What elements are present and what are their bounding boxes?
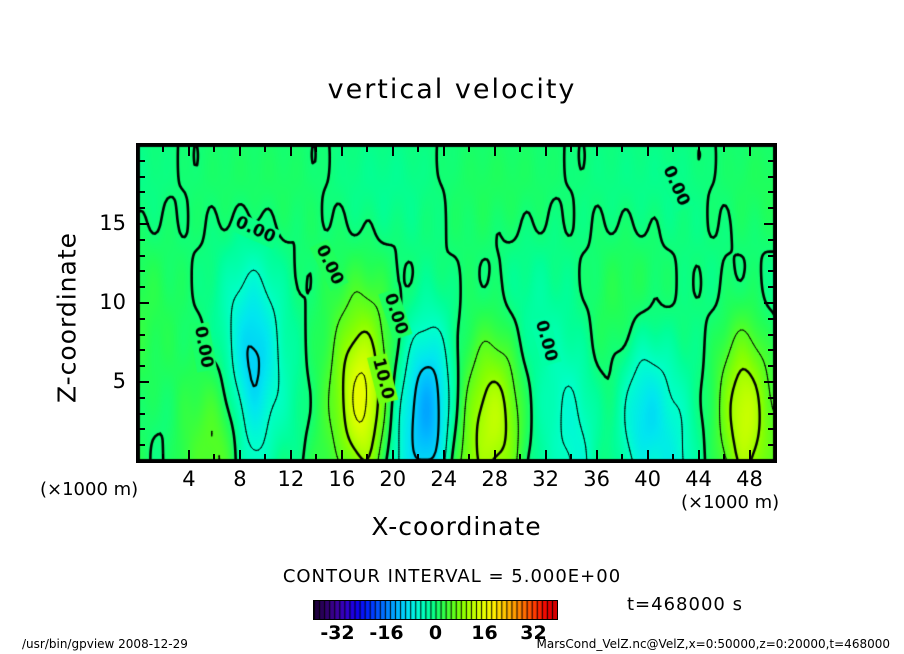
y-tick-left bbox=[138, 349, 145, 351]
colorbar-canvas bbox=[314, 601, 557, 619]
y-tick-right bbox=[768, 207, 775, 209]
y-axis-units: (×1000 m) bbox=[40, 479, 138, 500]
x-tick-top bbox=[264, 145, 266, 152]
y-tick-right bbox=[764, 302, 775, 304]
y-tick-right bbox=[768, 444, 775, 446]
x-tick-top bbox=[545, 145, 547, 156]
y-tick-left bbox=[138, 286, 145, 288]
y-tick-right bbox=[768, 160, 775, 162]
y-tick-right bbox=[768, 239, 775, 241]
y-tick-left bbox=[138, 302, 149, 304]
x-tick-bottom bbox=[417, 454, 419, 461]
y-tick-left bbox=[138, 255, 145, 257]
x-tick-bottom bbox=[162, 454, 164, 461]
contour-interval-text: CONTOUR INTERVAL = 5.000E+00 bbox=[0, 566, 904, 587]
y-tick-right bbox=[768, 397, 775, 399]
x-tick-top bbox=[315, 145, 317, 152]
x-tick-bottom bbox=[494, 450, 496, 461]
y-tick-left bbox=[138, 318, 145, 320]
page-title: vertical velocity bbox=[0, 74, 904, 105]
footer-command: /usr/bin/gpview 2008-12-29 bbox=[22, 637, 188, 651]
y-tick-left bbox=[138, 191, 145, 193]
x-tick-bottom bbox=[188, 450, 190, 461]
x-tick-bottom bbox=[392, 450, 394, 461]
x-tick-top bbox=[213, 145, 215, 152]
x-tick-top bbox=[723, 145, 725, 152]
contour-field-canvas bbox=[138, 145, 775, 461]
x-tick-top bbox=[341, 145, 343, 156]
x-tick-bottom bbox=[468, 454, 470, 461]
x-tick-top bbox=[392, 145, 394, 156]
y-tick-right bbox=[768, 334, 775, 336]
plot-area bbox=[136, 143, 777, 463]
y-tick-left bbox=[138, 413, 145, 415]
y-axis-title: Z-coordinate bbox=[53, 203, 82, 433]
x-tick-top bbox=[494, 145, 496, 156]
y-tick-right bbox=[768, 270, 775, 272]
y-tick-right bbox=[768, 428, 775, 430]
y-tick-right bbox=[768, 318, 775, 320]
x-tick-top bbox=[188, 145, 190, 156]
y-tick-right bbox=[768, 349, 775, 351]
y-tick-right bbox=[768, 191, 775, 193]
y-tick-right bbox=[764, 381, 775, 383]
x-tick-top bbox=[417, 145, 419, 152]
y-tick-right bbox=[768, 255, 775, 257]
y-tick-right bbox=[768, 365, 775, 367]
x-tick-top bbox=[519, 145, 521, 152]
y-tick-right bbox=[768, 286, 775, 288]
y-tick-left bbox=[138, 397, 145, 399]
x-tick-top bbox=[366, 145, 368, 152]
y-tick-left bbox=[138, 428, 145, 430]
x-tick-top bbox=[162, 145, 164, 152]
y-tick-left bbox=[138, 223, 149, 225]
x-tick-top bbox=[647, 145, 649, 156]
x-tick-top bbox=[749, 145, 751, 156]
x-tick-bottom bbox=[672, 454, 674, 461]
y-tick-left bbox=[138, 270, 145, 272]
x-tick-bottom bbox=[290, 450, 292, 461]
y-tick-right bbox=[768, 176, 775, 178]
x-tick-bottom bbox=[341, 450, 343, 461]
x-tick-top bbox=[468, 145, 470, 152]
x-tick-bottom bbox=[698, 450, 700, 461]
x-tick-bottom bbox=[570, 454, 572, 461]
y-tick-left bbox=[138, 334, 145, 336]
x-tick-bottom bbox=[213, 454, 215, 461]
x-axis-title: X-coordinate bbox=[136, 512, 777, 541]
x-tick-top bbox=[596, 145, 598, 156]
x-tick-bottom bbox=[519, 454, 521, 461]
x-tick-bottom bbox=[315, 454, 317, 461]
x-tick-bottom bbox=[723, 454, 725, 461]
x-tick-bottom bbox=[264, 454, 266, 461]
x-axis-units: (×1000 m) bbox=[681, 492, 779, 513]
x-tick-bottom bbox=[366, 454, 368, 461]
x-tick-top bbox=[443, 145, 445, 156]
x-tick-label: 48 bbox=[720, 467, 780, 491]
y-tick-left bbox=[138, 239, 145, 241]
colorbar bbox=[313, 600, 558, 620]
x-tick-top bbox=[621, 145, 623, 152]
x-tick-top bbox=[672, 145, 674, 152]
x-tick-bottom bbox=[239, 450, 241, 461]
y-tick-label: 10 bbox=[86, 290, 126, 314]
x-tick-bottom bbox=[545, 450, 547, 461]
x-tick-top bbox=[698, 145, 700, 156]
y-tick-right bbox=[768, 413, 775, 415]
time-label: t=468000 s bbox=[627, 594, 743, 615]
x-tick-top bbox=[570, 145, 572, 152]
y-tick-left bbox=[138, 176, 145, 178]
y-tick-left bbox=[138, 365, 145, 367]
x-tick-bottom bbox=[596, 450, 598, 461]
y-tick-label: 15 bbox=[86, 211, 126, 235]
x-tick-bottom bbox=[443, 450, 445, 461]
y-tick-label: 5 bbox=[86, 369, 126, 393]
y-tick-left bbox=[138, 444, 145, 446]
y-tick-left bbox=[138, 207, 145, 209]
x-tick-top bbox=[290, 145, 292, 156]
y-tick-left bbox=[138, 160, 145, 162]
y-tick-left bbox=[138, 381, 149, 383]
footer-source: MarsCond_VelZ.nc@VelZ,x=0:50000,z=0:2000… bbox=[536, 637, 890, 651]
y-tick-right bbox=[764, 223, 775, 225]
x-tick-top bbox=[239, 145, 241, 156]
x-tick-bottom bbox=[749, 450, 751, 461]
x-tick-bottom bbox=[621, 454, 623, 461]
x-tick-bottom bbox=[647, 450, 649, 461]
